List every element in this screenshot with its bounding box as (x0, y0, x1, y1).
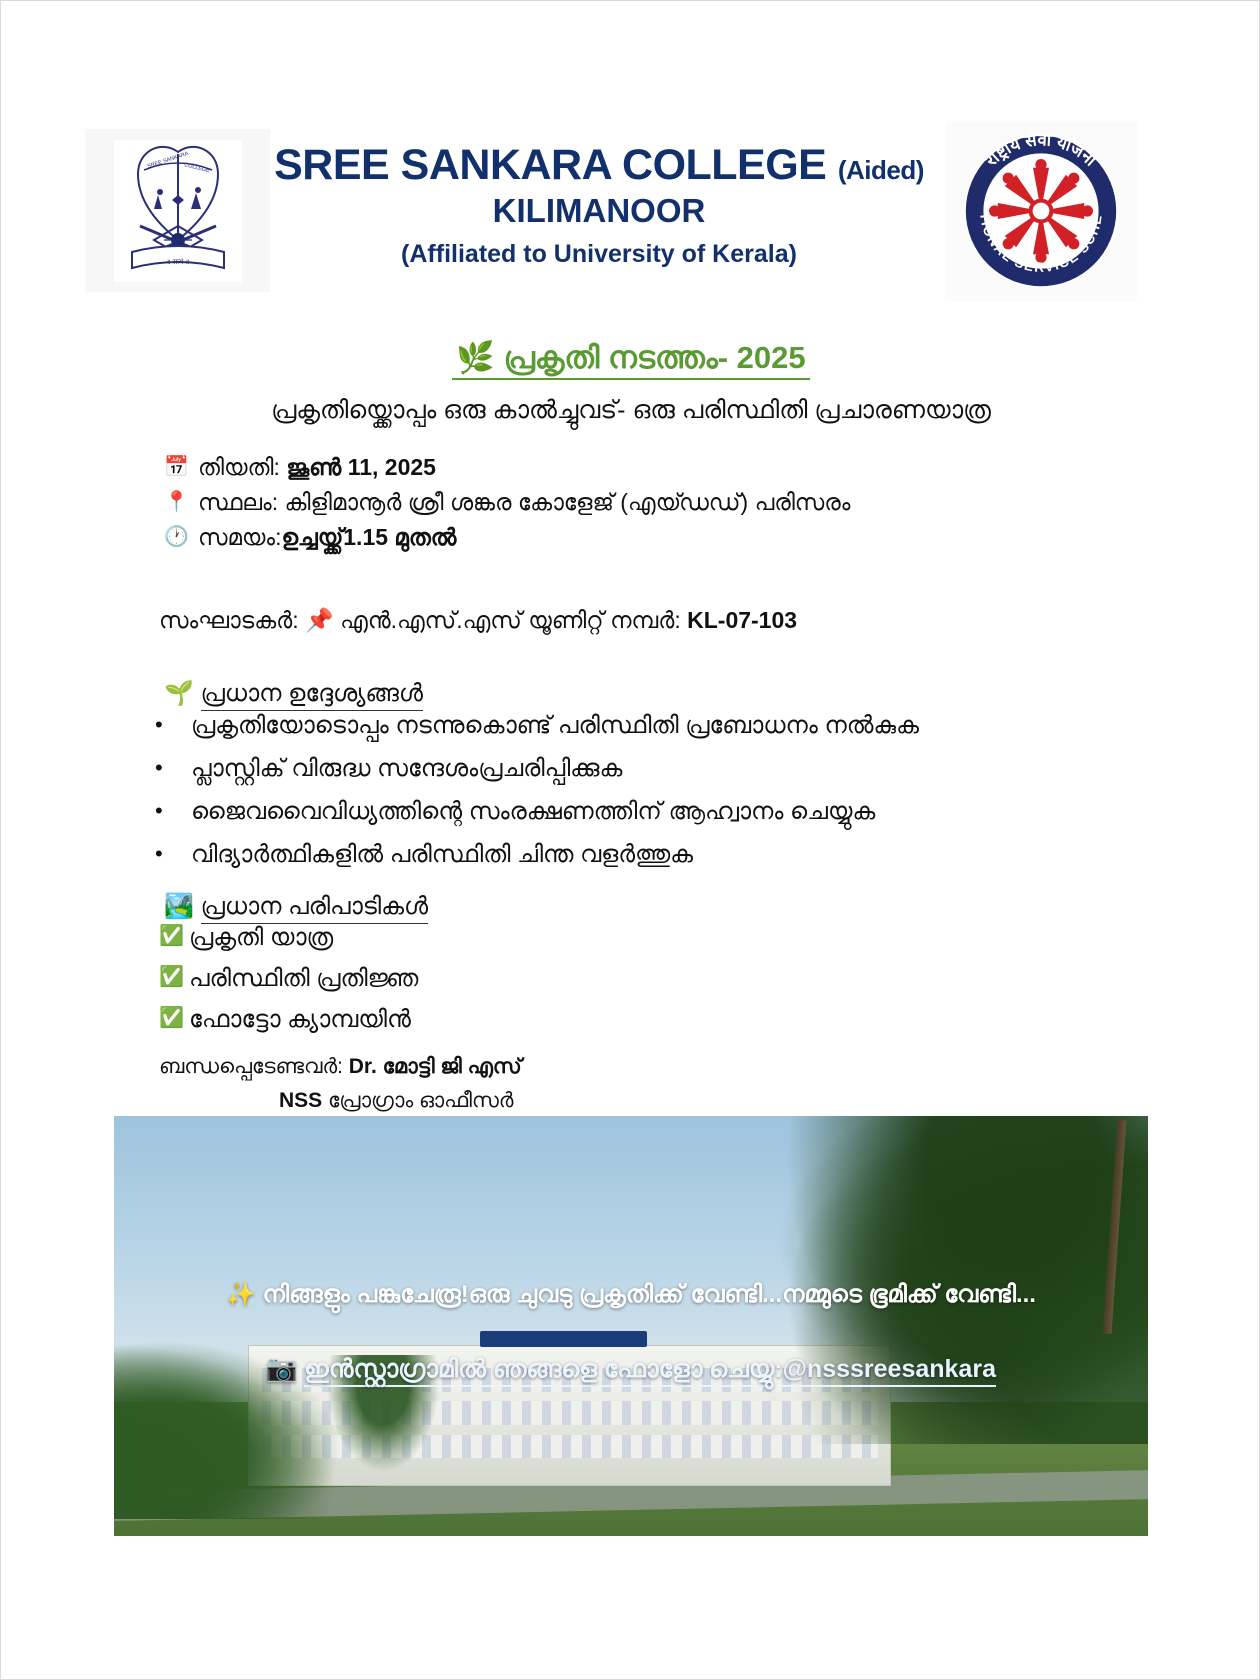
calendar-icon: 📅 (164, 456, 190, 478)
college-place: KILIMANOOR (269, 192, 929, 230)
contact-person-line: ബന്ധപ്പെടേണ്ടവർ: Dr. മോട്ടി ജി എസ് (159, 1056, 959, 1077)
seedling-icon: 🌱 (164, 680, 194, 707)
program-text: ഫോട്ടോ ക്യാമ്പയിൻ (189, 1008, 411, 1032)
document-header: SREE SANKARA COLLEGE (1, 113, 1260, 303)
clock-icon: 🕐 (164, 526, 190, 548)
event-title: 🌿 പ്രകൃതി നടത്തം- 2025 (1, 339, 1260, 377)
program-text: പരിസ്ഥിതി പ്രതിജ്ഞ (189, 967, 418, 991)
contact-role-line: NSS പ്രോഗ്രാം ഓഫീസർ (159, 1090, 959, 1111)
location-pin-icon: 📍 (164, 491, 190, 513)
objective-item: • പ്രകൃതിയോടൊപ്പം നടന്നുകൊണ്ട് പരിസ്ഥിതി… (151, 714, 1101, 738)
photo-overlay-text: നിങ്ങളും പങ്കുചേരൂ!ഒരു ചുവടു പ്രകൃതിക്ക്… (263, 1281, 1036, 1308)
organizer-unit-number: KL-07-103 (687, 607, 797, 633)
green-check-icon: ✅ (159, 967, 189, 987)
objective-item: • പ്ലാസ്റ്റിക് വിരുദ്ധ സന്ദേശംപ്രചരിപ്പി… (151, 757, 1101, 781)
detail-location: 📍 സ്ഥലം: കിളിമാനൂർ ശ്രീ ശങ്കര കോളേജ് (എയ… (164, 491, 1114, 514)
event-subtitle: പ്രകൃതിയ്ക്കൊപ്പം ഒരു കാൽച്ചുവട്- ഒരു പര… (1, 396, 1260, 425)
program-text: പ്രകൃതി യാത്ര (189, 926, 333, 950)
aided-label: (Aided) (838, 155, 924, 185)
nss-logo: राष्ट्रीय सेवा योजना NATIONAL SERVICE SC… (945, 121, 1137, 301)
sparkles-icon: ✨ (226, 1281, 256, 1308)
landscape-photo-icon: 🏞️ (164, 893, 194, 920)
detail-location-label: സ്ഥലം: (198, 491, 278, 514)
contact-role-text: പ്രോഗ്രാം ഓഫീസർ (328, 1089, 513, 1112)
detail-time: 🕐 സമയം: ഉച്ചയ്ക്ക്1.15 മുതൽ (164, 526, 1114, 549)
detail-time-label: സമയം: (198, 526, 281, 549)
detail-date-value: ജൂൺ 11, 2025 (286, 456, 436, 479)
contact-person-label: ബന്ധപ്പെടേണ്ടവർ: (159, 1055, 343, 1078)
objective-item: • വിദ്യാർത്ഥികളിൽ പരിസ്ഥിതി ചിന്ത വളർത്ത… (151, 843, 1101, 867)
programs-heading: 🏞️ പ്രധാന പരിപാടികൾ (164, 892, 428, 921)
green-check-icon: ✅ (159, 1008, 189, 1028)
program-item: ✅ ഫോട്ടോ ക്യാമ്പയിൻ (159, 1008, 959, 1032)
program-item: ✅ പ്രകൃതി യാത്ര (159, 926, 959, 950)
building-sign (480, 1331, 647, 1348)
college-title-block: SREE SANKARA COLLEGE (Aided) KILIMANOOR … (269, 143, 929, 269)
programs-heading-text: പ്രധാന പരിപാടികൾ (201, 893, 429, 924)
program-item: ✅ പരിസ്ഥിതി പ്രതിജ്ഞ (159, 967, 959, 991)
college-affiliation: (Affiliated to University of Kerala) (269, 240, 929, 269)
event-title-text: പ്രകൃതി നടത്തം- 2025 (504, 340, 806, 375)
objective-text: ജൈവവൈവിധ്യത്തിന്റെ സംരക്ഷണത്തിന് ആഹ്വാനം… (191, 800, 875, 824)
contact-person-name: Dr. മോട്ടി ജി എസ് (349, 1055, 522, 1078)
college-name: SREE SANKARA COLLEGE (274, 141, 826, 189)
organizer-line: സംഘാടകർ: 📌 എൻ.എസ്.എസ് യൂണിറ്റ് നമ്പർ: KL… (159, 607, 797, 634)
programs-list: ✅ പ്രകൃതി യാത്ര ✅ പരിസ്ഥിതി പ്രതിജ്ഞ ✅ ഫ… (159, 926, 959, 1049)
bullet-icon: • (151, 843, 191, 865)
objective-text: പ്രകൃതിയോടൊപ്പം നടന്നുകൊണ്ട് പരിസ്ഥിതി പ… (191, 714, 919, 738)
poster-page: SREE SANKARA COLLEGE (0, 0, 1260, 1680)
bullet-icon: • (151, 800, 191, 822)
svg-text:COLLEGE: COLLEGE (183, 162, 210, 174)
green-check-icon: ✅ (159, 926, 189, 946)
detail-location-value: കിളിമാനൂർ ശ്രീ ശങ്കര കോളേജ് (എയ്ഡഡ്) പരി… (284, 491, 850, 514)
objectives-heading-text: പ്രധാന ഉദ്ദേശ്യങ്ങൾ (201, 680, 423, 711)
instagram-handle-text[interactable]: ഇൻസ്റ്റാഗ്രാമിൽ ഞങ്ങളെ ഫോളോ ചെയ്യു:@nsss… (304, 1355, 996, 1387)
college-campus-photo: ✨ നിങ്ങളും പങ്കുചേരൂ!ഒരു ചുവടു പ്രകൃതിക്… (114, 1116, 1148, 1536)
pushpin-icon: 📌 (305, 607, 334, 633)
camera-icon: 📷 (266, 1355, 297, 1383)
organizer-unit-label: എൻ.എസ്.എസ് യൂണിറ്റ് നമ്പർ: (340, 607, 681, 633)
detail-time-value: ഉച്ചയ്ക്ക്1.15 മുതൽ (281, 526, 456, 549)
objectives-heading: 🌱 പ്രധാന ഉദ്ദേശ്യങ്ങൾ (164, 679, 423, 708)
bullet-icon: • (151, 714, 191, 736)
detail-date: 📅 തിയതി: ജൂൺ 11, 2025 (164, 456, 1114, 479)
objective-text: പ്ലാസ്റ്റിക് വിരുദ്ധ സന്ദേശംപ്രചരിപ്പിക്… (191, 757, 622, 781)
organizer-label: സംഘാടകർ: (159, 607, 299, 633)
svg-text:॥ सत्यं ॥: ॥ सत्यं ॥ (166, 258, 189, 266)
nss-abbr: NSS (279, 1089, 322, 1112)
college-crest-logo: SREE SANKARA COLLEGE (85, 129, 270, 292)
objective-text: വിദ്യാർത്ഥികളിൽ പരിസ്ഥിതി ചിന്ത വളർത്തുക (191, 843, 693, 867)
bullet-icon: • (151, 757, 191, 779)
objectives-list: • പ്രകൃതിയോടൊപ്പം നടന്നുകൊണ്ട് പരിസ്ഥിതി… (151, 714, 1101, 886)
leaf-icon: 🌿 (456, 340, 495, 375)
photo-overlay-message: ✨ നിങ്ങളും പങ്കുചേരൂ!ഒരു ചുവടു പ്രകൃതിക്… (114, 1280, 1148, 1309)
event-details: 📅 തിയതി: ജൂൺ 11, 2025 📍 സ്ഥലം: കിളിമാനൂർ… (164, 456, 1114, 561)
instagram-handle-line[interactable]: 📷 ഇൻസ്റ്റാഗ്രാമിൽ ഞങ്ങളെ ഫോളോ ചെയ്യു:@ns… (114, 1355, 1148, 1384)
detail-date-label: തിയതി: (198, 456, 280, 479)
objective-item: • ജൈവവൈവിധ്യത്തിന്റെ സംരക്ഷണത്തിന് ആഹ്വാ… (151, 800, 1101, 824)
